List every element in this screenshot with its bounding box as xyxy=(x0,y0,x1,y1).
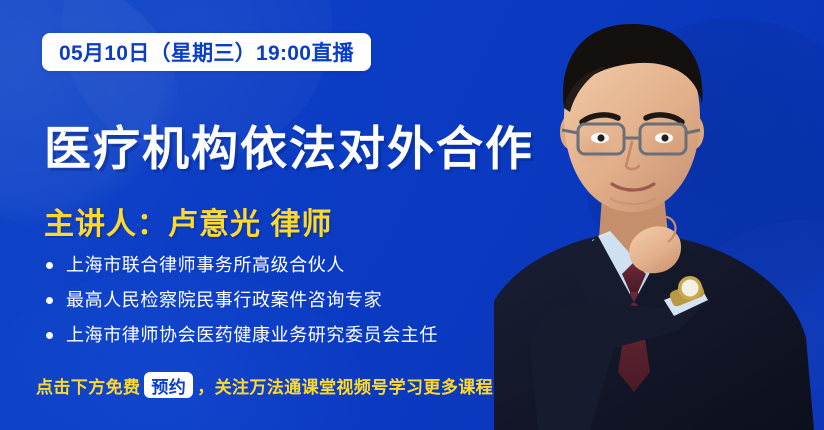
bullet-dot-icon xyxy=(46,332,53,339)
credential-text: 最高人民检察院民事行政案件咨询专家 xyxy=(66,291,382,309)
list-item: 上海市联合律师事务所高级合伙人 xyxy=(46,256,438,274)
credentials-list: 上海市联合律师事务所高级合伙人 最高人民检察院民事行政案件咨询专家 上海市律师协… xyxy=(46,256,438,361)
bullet-dot-icon xyxy=(46,262,53,269)
date-badge: 05月10日（星期三）19:00直播 xyxy=(42,33,371,71)
cta-row: 点击下方免费 预约 ，关注万法通课堂视频号学习更多课程 xyxy=(36,372,493,398)
credential-text: 上海市联合律师事务所高级合伙人 xyxy=(66,256,345,274)
page-title: 医疗机构依法对外合作 xyxy=(44,110,534,179)
bullet-dot-icon xyxy=(46,297,53,304)
credential-text: 上海市律师协会医药健康业务研究委员会主任 xyxy=(66,326,438,344)
list-item: 最高人民检察院民事行政案件咨询专家 xyxy=(46,291,438,309)
speaker-name: 主讲人：卢意光 律师 xyxy=(44,199,332,243)
cta-prefix-text: 点击下方免费 xyxy=(36,373,140,398)
reserve-button[interactable]: 预约 xyxy=(144,372,193,398)
content-column: 05月10日（星期三）19:00直播 医疗机构依法对外合作 主讲人：卢意光 律师… xyxy=(0,0,560,430)
cta-suffix-text: ，关注万法通课堂视频号学习更多课程 xyxy=(197,373,493,398)
list-item: 上海市律师协会医药健康业务研究委员会主任 xyxy=(46,326,438,344)
promo-banner: 05月10日（星期三）19:00直播 医疗机构依法对外合作 主讲人：卢意光 律师… xyxy=(0,0,824,430)
